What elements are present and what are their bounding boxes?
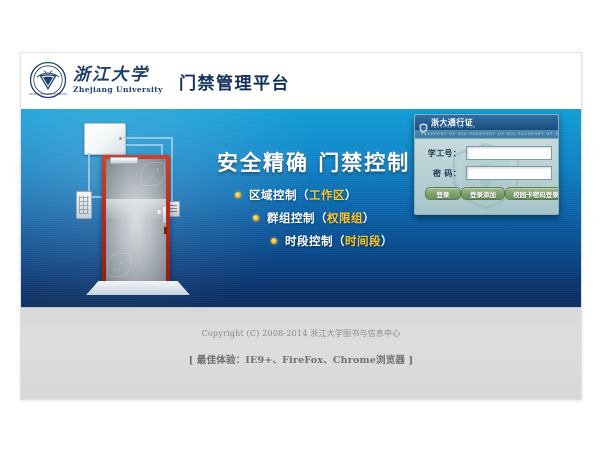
wire-segment [124,144,162,146]
access-controller-box-icon [84,123,126,155]
password-input[interactable] [466,166,552,180]
zju-seal-icon: ZHEJIANG UNIVERSITY [29,61,67,99]
login-panel-titlebar: 浙大通行证 PASSPORT OF ZJU [415,115,558,130]
wordmark-en: Zhejiang University [73,85,163,95]
username-label: 学工号： [421,148,461,159]
feature-tail: ） [345,187,357,203]
brand-logo[interactable]: ZHEJIANG UNIVERSITY 浙江大学 Zhejiang Univer… [29,61,163,99]
screenshot-stage: ZHEJIANG UNIVERSITY 浙江大学 Zhejiang Univer… [0,0,600,450]
wire-segment [124,137,172,139]
hero-feature-item: 时段控制（ 时间段 ） [271,233,393,249]
password-label: 密 码： [421,168,461,179]
svg-text:ZHEJIANG UNIVERSITY: ZHEJIANG UNIVERSITY [29,92,67,96]
browser-support-text: [ 最佳体验：IE9+、FireFox、Chrome浏览器 ] [21,352,581,366]
login-panel-subtitle: PASSPORT OF ZJU [431,125,476,129]
passport-watermark-strip: PASSPORT OF ZJU PASSPORT OF ZJU PASSPORT… [415,130,558,139]
door-panel [106,159,166,281]
door-handle-icon [163,207,166,223]
feature-highlight: 工作区 [309,187,345,203]
security-door-illustration [56,113,196,303]
site-header: ZHEJIANG UNIVERSITY 浙江大学 Zhejiang Univer… [21,53,581,109]
login-field-row: 学工号： [421,146,552,160]
brand-wordmark: 浙江大学 Zhejiang University [73,61,163,99]
login-panel: 浙大通行证 PASSPORT OF ZJU PASSPORT OF ZJU PA… [414,114,559,215]
door-ornament [141,162,165,186]
amber-dot-icon [253,215,259,221]
login-form: 学工号： 密 码： 登录 登录添加 校园卡密码 [415,139,558,200]
page-title: 门禁管理平台 [179,69,290,94]
hero-feature-list: 区域控制（ 工作区 ） 群组控制（ 权限组 ） 时段控制（ 时间段 ） [235,187,393,256]
door-latch-icon [164,227,167,234]
door-ornament [107,253,131,277]
feature-highlight: 时间段 [345,233,381,249]
hero-banner: 安全精确 门禁控制 区域控制（ 工作区 ） 群组控制（ 权限组 ） 时段 [21,109,581,307]
feature-tail: ） [363,210,375,226]
login-field-row: 密 码： [421,166,552,180]
watermark-text: PASSPORT OF ZJU PASSPORT OF ZJU PASSPORT… [415,132,558,136]
wordmark-cn: 浙江大学 [73,66,163,85]
hero-feature-item: 群组控制（ 权限组 ） [253,210,393,226]
feature-tail: ） [381,233,393,249]
security-door-icon [102,155,170,283]
password-input-field[interactable] [467,174,551,186]
campus-card-login-button[interactable]: 校园卡密码登录 [505,187,559,200]
login-add-button[interactable]: 登录添加 [461,187,505,200]
username-input[interactable] [466,146,552,160]
shield-icon [419,118,428,128]
floor-platform [86,281,190,295]
username-input-field[interactable] [467,154,551,166]
feature-label: 群组控制（ [267,210,327,226]
feature-label: 时段控制（ [285,233,345,249]
feature-highlight: 权限组 [327,210,363,226]
login-button[interactable]: 登录 [425,187,461,200]
login-button-group: 登录 登录添加 校园卡密码登录 [421,186,552,200]
hero-feature-item: 区域控制（ 工作区 ） [235,187,393,203]
page-card: ZHEJIANG UNIVERSITY 浙江大学 Zhejiang Univer… [20,52,582,400]
site-footer: Copyright (C) 2008-2014 浙江大学图书与信息中心 [ 最佳… [21,307,581,400]
keypad-reader-icon [76,191,92,219]
amber-dot-icon [235,192,241,198]
copyright-text: Copyright (C) 2008-2014 浙江大学图书与信息中心 [21,328,581,339]
amber-dot-icon [271,238,277,244]
hero-headline: 安全精确 门禁控制 [217,147,410,177]
door-knob-icon [157,210,161,214]
door-closer-icon [110,157,138,164]
feature-label: 区域控制（ [249,187,309,203]
